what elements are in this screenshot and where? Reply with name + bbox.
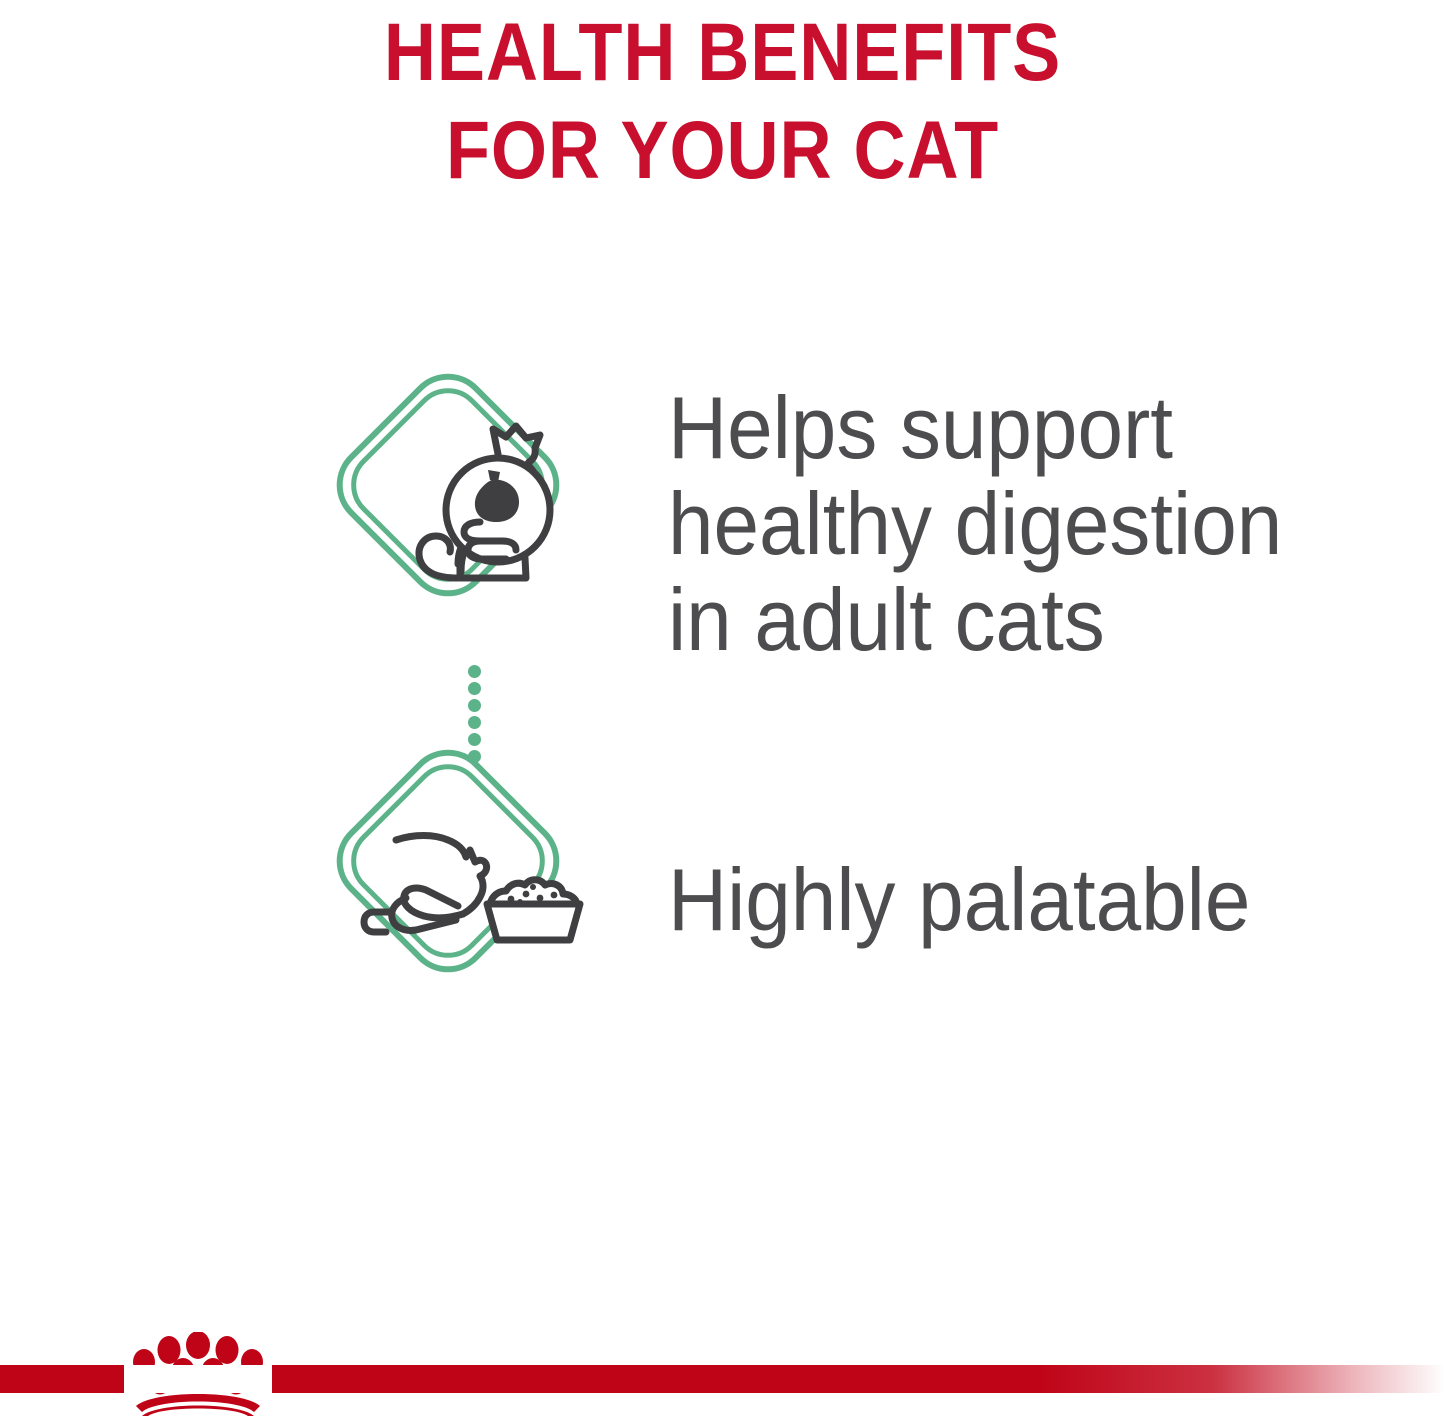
logo-bar-cutout xyxy=(124,1365,272,1393)
royal-canin-crown-logo xyxy=(108,1332,288,1416)
benefit-icon-badge-palatability xyxy=(330,758,620,1042)
benefit-icon-badge-digestion xyxy=(330,382,620,666)
connector-dot xyxy=(468,682,481,695)
benefit-label-line-1: Helps support xyxy=(668,380,1282,476)
cat-eating-bowl-icon xyxy=(330,758,620,1042)
page-title-line-2: FOR YOUR CAT xyxy=(87,102,1359,200)
benefit-label-digestion: Helps support healthy digestion in adult… xyxy=(668,380,1282,668)
food-bowl xyxy=(487,880,580,940)
health-benefits-panel: HEALTH BENEFITS FOR YOUR CAT xyxy=(0,0,1445,1416)
page-title-line-1: HEALTH BENEFITS xyxy=(87,4,1359,102)
cat-digestion-icon xyxy=(330,382,620,666)
benefit-label-line-1: Highly palatable xyxy=(668,852,1250,948)
benefit-item-palatability: Highly palatable xyxy=(330,758,1294,1042)
connector-dot xyxy=(468,699,481,712)
kibble-mound xyxy=(490,880,577,904)
dotted-connector xyxy=(468,665,484,765)
connector-dot xyxy=(468,716,481,729)
benefit-label-palatability: Highly palatable xyxy=(668,852,1250,948)
benefit-item-digestion: Helps support healthy digestion in adult… xyxy=(330,380,1328,668)
connector-dot xyxy=(468,733,481,746)
connector-dot xyxy=(468,665,481,678)
benefit-label-line-3: in adult cats xyxy=(668,572,1282,668)
benefit-label-line-2: healthy digestion xyxy=(668,476,1282,572)
page-title: HEALTH BENEFITS FOR YOUR CAT xyxy=(87,4,1359,200)
